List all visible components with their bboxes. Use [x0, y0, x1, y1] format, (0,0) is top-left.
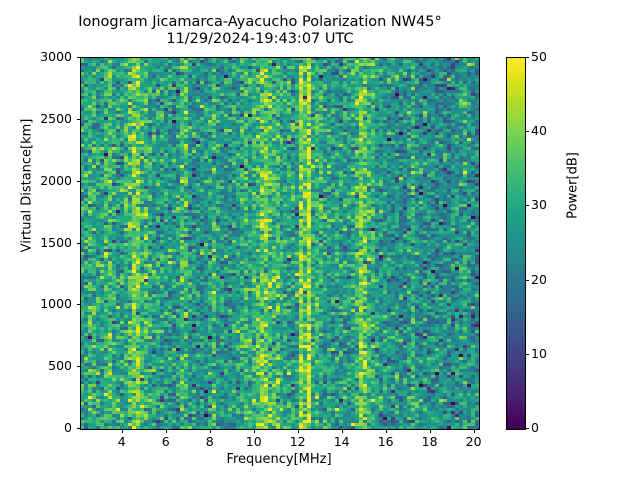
colorbar-tick-mark	[526, 428, 530, 429]
x-tick-mark	[210, 429, 211, 433]
y-tick-label: 3000	[40, 49, 72, 64]
x-tick-label: 14	[322, 434, 362, 449]
title-line-1: Ionogram Jicamarca-Ayacucho Polarization…	[0, 14, 520, 31]
colorbar-tick-mark	[526, 131, 530, 132]
y-tick-label: 2000	[40, 173, 72, 188]
colorbar-gradient	[507, 58, 525, 429]
page-title: Ionogram Jicamarca-Ayacucho Polarization…	[0, 14, 520, 48]
colorbar	[506, 57, 526, 430]
colorbar-tick-mark	[526, 354, 530, 355]
colorbar-tick-mark	[526, 57, 530, 58]
y-tick-label: 0	[64, 420, 72, 435]
y-tick-mark	[77, 243, 81, 244]
colorbar-tick-label: 40	[531, 123, 547, 138]
x-tick-label: 10	[234, 434, 274, 449]
heatmap-axes	[80, 57, 480, 430]
x-tick-label: 12	[278, 434, 318, 449]
colorbar-tick-label: 0	[531, 420, 539, 435]
y-tick-mark	[77, 119, 81, 120]
x-axis-label: Frequency[MHz]	[80, 452, 478, 467]
x-tick-mark	[386, 429, 387, 433]
colorbar-tick-mark	[526, 280, 530, 281]
title-line-2: 11/29/2024-19:43:07 UTC	[0, 31, 520, 48]
y-tick-label: 500	[48, 358, 72, 373]
ionogram-heatmap	[81, 58, 479, 429]
x-tick-label: 6	[146, 434, 186, 449]
x-tick-mark	[254, 429, 255, 433]
colorbar-tick-label: 20	[531, 272, 547, 287]
x-tick-mark	[298, 429, 299, 433]
x-tick-label: 4	[102, 434, 142, 449]
x-tick-mark	[166, 429, 167, 433]
x-tick-mark	[122, 429, 123, 433]
colorbar-tick-label: 30	[531, 197, 547, 212]
x-tick-label: 20	[454, 434, 494, 449]
y-tick-label: 1500	[40, 235, 72, 250]
x-tick-mark	[342, 429, 343, 433]
colorbar-tick-label: 10	[531, 346, 547, 361]
colorbar-tick-label: 50	[531, 49, 547, 64]
y-tick-mark	[77, 304, 81, 305]
x-tick-label: 18	[410, 434, 450, 449]
y-axis-ticks: 050010001500200025003000	[0, 0, 72, 480]
colorbar-label: Power[dB]	[566, 96, 581, 276]
ionogram-figure: Ionogram Jicamarca-Ayacucho Polarization…	[0, 0, 640, 480]
y-tick-mark	[77, 366, 81, 367]
y-tick-mark	[77, 181, 81, 182]
colorbar-tick-mark	[526, 205, 530, 206]
x-tick-label: 16	[366, 434, 406, 449]
y-tick-mark	[77, 428, 81, 429]
y-tick-label: 1000	[40, 296, 72, 311]
y-tick-mark	[77, 57, 81, 58]
y-tick-label: 2500	[40, 111, 72, 126]
x-tick-label: 8	[190, 434, 230, 449]
x-tick-mark	[474, 429, 475, 433]
y-axis-label: Virtual Distance[km]	[20, 96, 35, 276]
x-tick-mark	[430, 429, 431, 433]
